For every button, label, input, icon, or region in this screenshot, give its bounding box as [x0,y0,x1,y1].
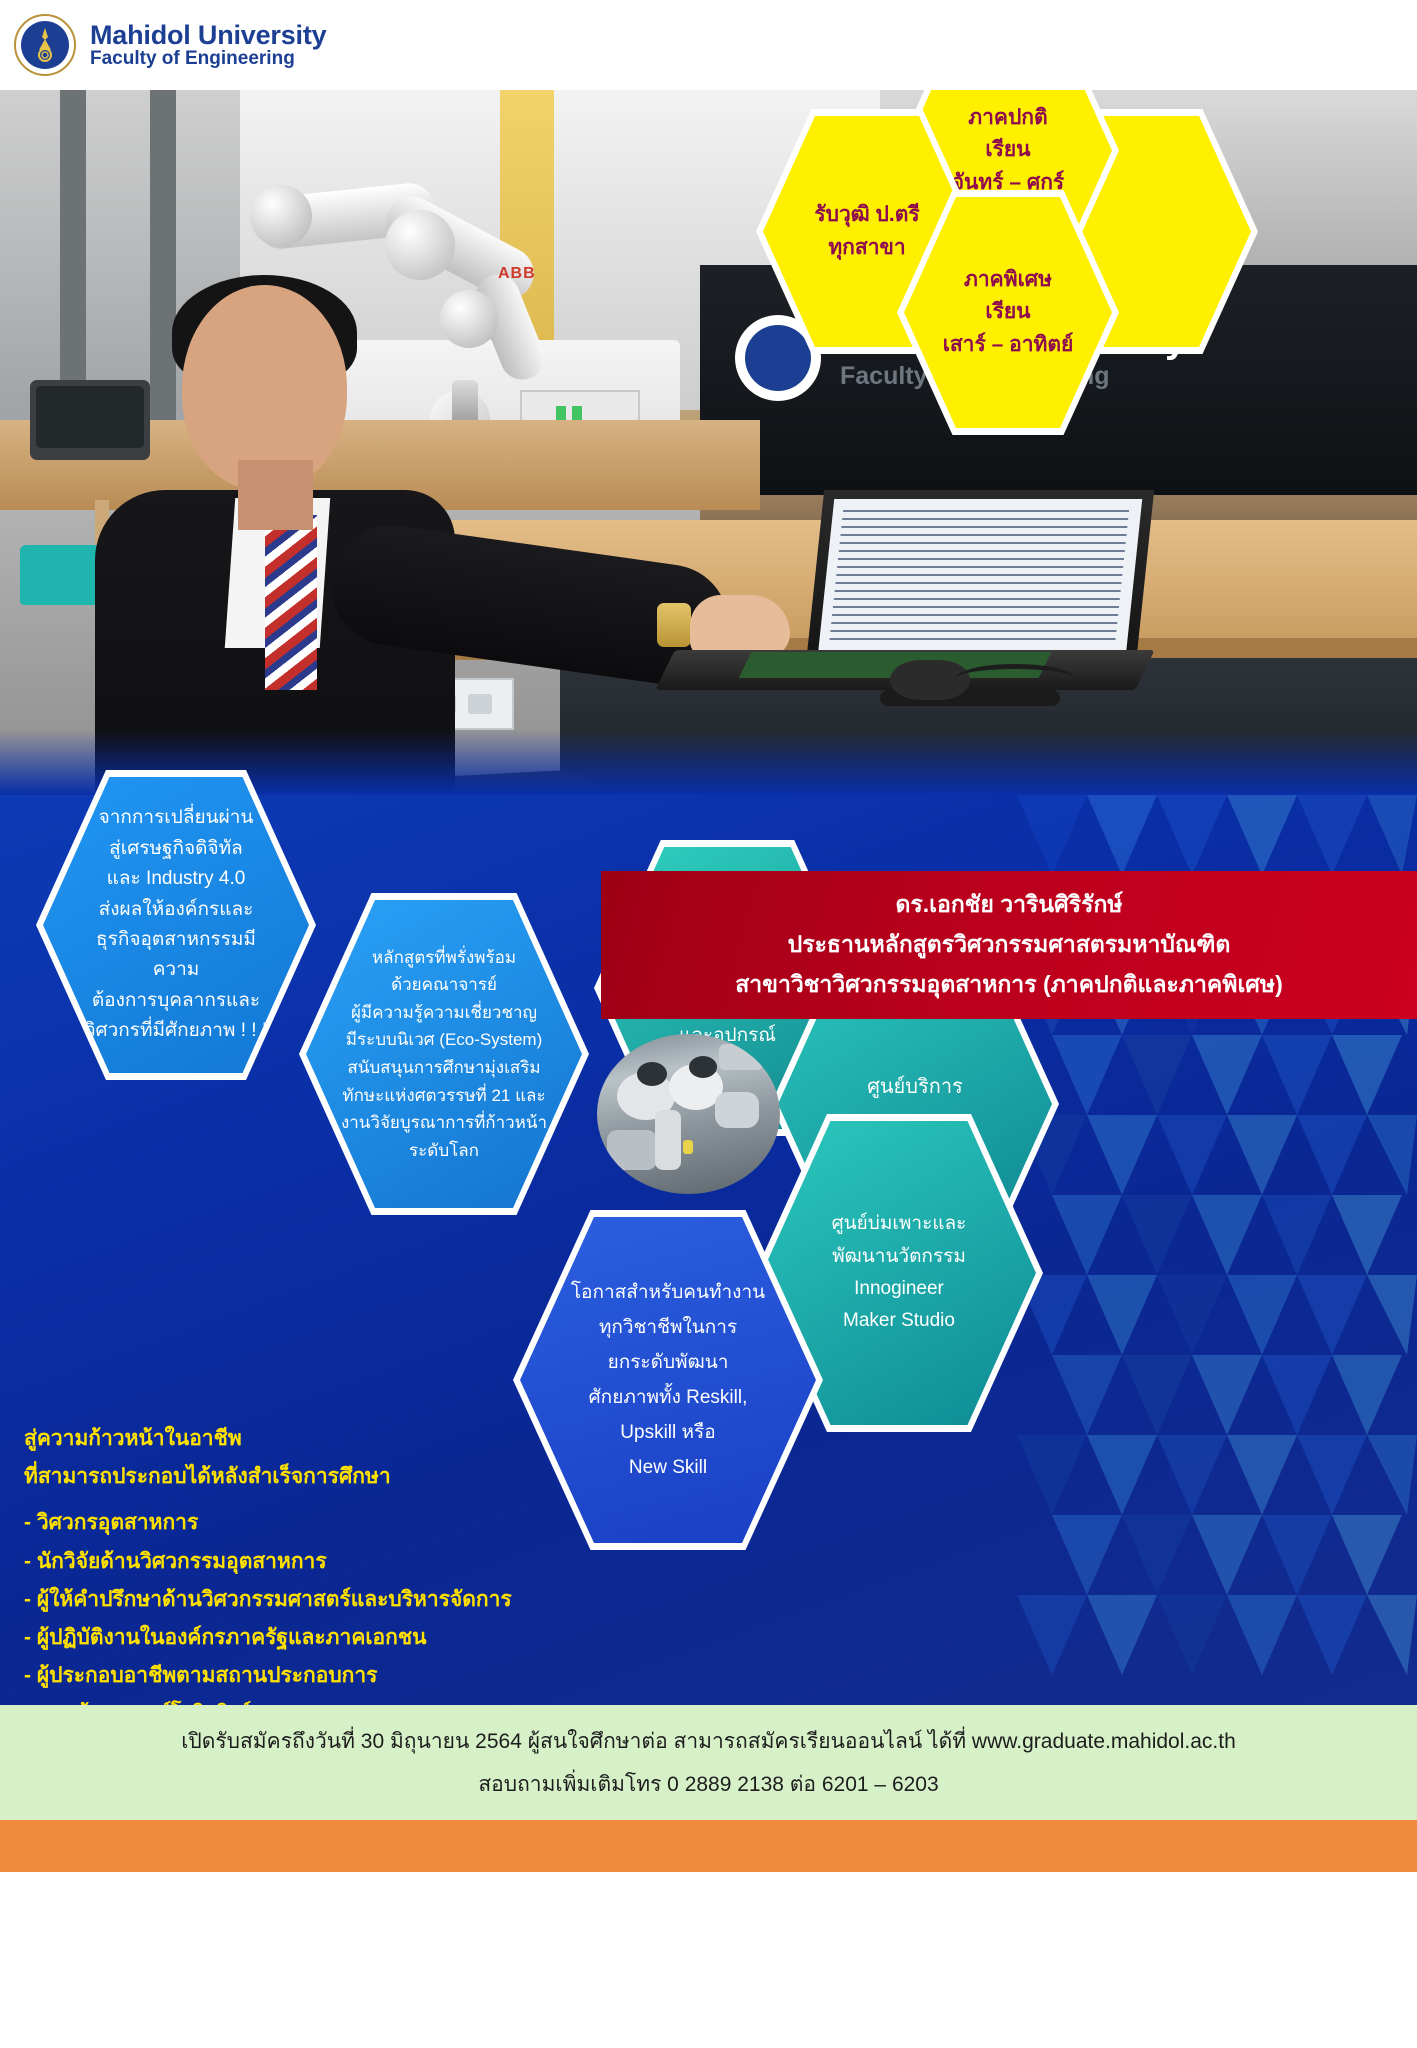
badge-special-line3: เสาร์ – อาทิตย์ [929,329,1087,362]
career-item: - วิศวกรอุตสาหการ [24,1504,584,1542]
hex-curriculum-line-1: หลักสูตรที่พรั่งพร้อม [331,944,557,972]
speaker-program: สาขาวิชาวิศวกรรมอุตสาหการ (ภาคปกติและภาค… [735,967,1282,1003]
faculty-name: Faculty of Engineering [90,49,326,69]
hex-curriculum-line-7: งานวิจัยบูรณาการที่ก้าวหน้า [331,1109,557,1137]
footer-contact: เปิดรับสมัครถึงวันที่ 30 มิถุนายน 2564 ผ… [0,1705,1417,1820]
hex-transformation-line-4: ส่งผลให้องค์กรและ [75,895,277,925]
mahidol-crest-icon [14,14,76,76]
career-item: - นักวิจัยด้านวิศวกรรมอุตสาหการ [24,1543,584,1581]
hex-transformation-line-1: จากการเปลี่ยนผ่าน [75,803,277,833]
speaker-banner: ดร.เอกชัย วารินศิริรักษ์ ประธานหลักสูตรว… [601,871,1417,1019]
career-item: - ผู้ให้คำปรึกษาด้านวิศวกรรมศาสตร์และบริ… [24,1581,584,1619]
footer-line-2: สอบถามเพิ่มเติมโทร 0 2889 2138 ต่อ 6201 … [478,1768,938,1801]
footer-orange-bar [0,1820,1417,1872]
hex-opportunity-line-5: Upskill หรือ [556,1415,781,1450]
robot-photo-thumbnail [597,1034,780,1194]
hex-opportunity-line-4: ศักยภาพทั้ง Reskill, [556,1380,781,1415]
hex-opportunity-line-2: ทุกวิชาชีพในการ [556,1310,781,1345]
hex-opportunity-line-6: New Skill [556,1450,781,1485]
hex-innogineer-line-4: Maker Studio [795,1305,1003,1337]
hex-service-line-1: ศูนย์บริการ [811,1070,1019,1104]
hex-transformation-line-6: ต้องการบุคลากรและ [75,986,277,1016]
hex-curriculum-line-8: ระดับโลก [331,1137,557,1165]
page-header: Mahidol University Faculty of Engineerin… [0,0,1417,90]
career-item: - ผู้ปฏิบัติงานในองค์กรภาครัฐและภาคเอกชน [24,1619,584,1657]
robot-brand-label: ABB [498,265,536,283]
hex-curriculum-line-4: มีระบบนิเวศ (Eco-System) [331,1026,557,1054]
poster-root: Mahidol University Faculty of Engineerin… [0,0,1417,2048]
hex-innogineer-line-2: พัฒนานวัตกรรม [795,1241,1003,1273]
badge-degree-line1: รับวุฒิ ป.ตรี [788,199,946,232]
career-item: - ผู้ประกอบอาชีพตามสถานประกอบการ [24,1657,584,1695]
university-name: Mahidol University [90,21,326,49]
badge-normal-line2: เรียน [929,134,1087,167]
hex-curriculum-line-5: สนับสนุนการศึกษามุ่งเสริม [331,1054,557,1082]
hex-opportunity-line-1: โอกาสสำหรับคนทำงาน [556,1275,781,1310]
hex-opportunity-line-3: ยกระดับพัฒนา [556,1345,781,1380]
hex-curriculum-line-2: ด้วยคณาจารย์ [331,971,557,999]
footer-white-area [0,1872,1417,2048]
hex-innogineer-line-1: ศูนย์บ่มเพาะและ [795,1208,1003,1240]
speaker-name: ดร.เอกชัย วารินศิริรักษ์ [895,887,1122,923]
hex-transformation-line-3: และ Industry 4.0 [75,864,277,894]
hex-transformation-line-2: สู่เศรษฐกิจดิจิทัล [75,834,277,864]
careers-heading-2: ที่สามารถประกอบได้หลังสำเร็จการศึกษา [24,1458,584,1496]
badge-special-line2: เรียน [929,296,1087,329]
badge-special-line1: ภาคพิเศษ [929,264,1087,297]
speaker-role: ประธานหลักสูตรวิศวกรรมศาสตรมหาบัณฑิต [788,927,1231,963]
footer-line-1: เปิดรับสมัครถึงวันที่ 30 มิถุนายน 2564 ผ… [181,1725,1236,1758]
badge-normal-line1: ภาคปกติ [929,102,1087,135]
crest-emblem-icon [33,28,57,62]
hex-curriculum-line-6: ทักษะแห่งศตวรรษที่ 21 และ [331,1082,557,1110]
hex-innogineer-line-3: Innogineer [795,1273,1003,1305]
hex-curriculum-line-3: ผู้มีความรู้ความเชี่ยวชาญ [331,999,557,1027]
hex-transformation-line-7: วิศวกรที่มีศักยภาพ ! ! ! [75,1016,277,1046]
hex-transformation-line-5: ธุรกิจอุตสาหกรรมมีความ [75,925,277,986]
careers-heading-1: สู่ความก้าวหน้าในอาชีพ [24,1420,584,1458]
